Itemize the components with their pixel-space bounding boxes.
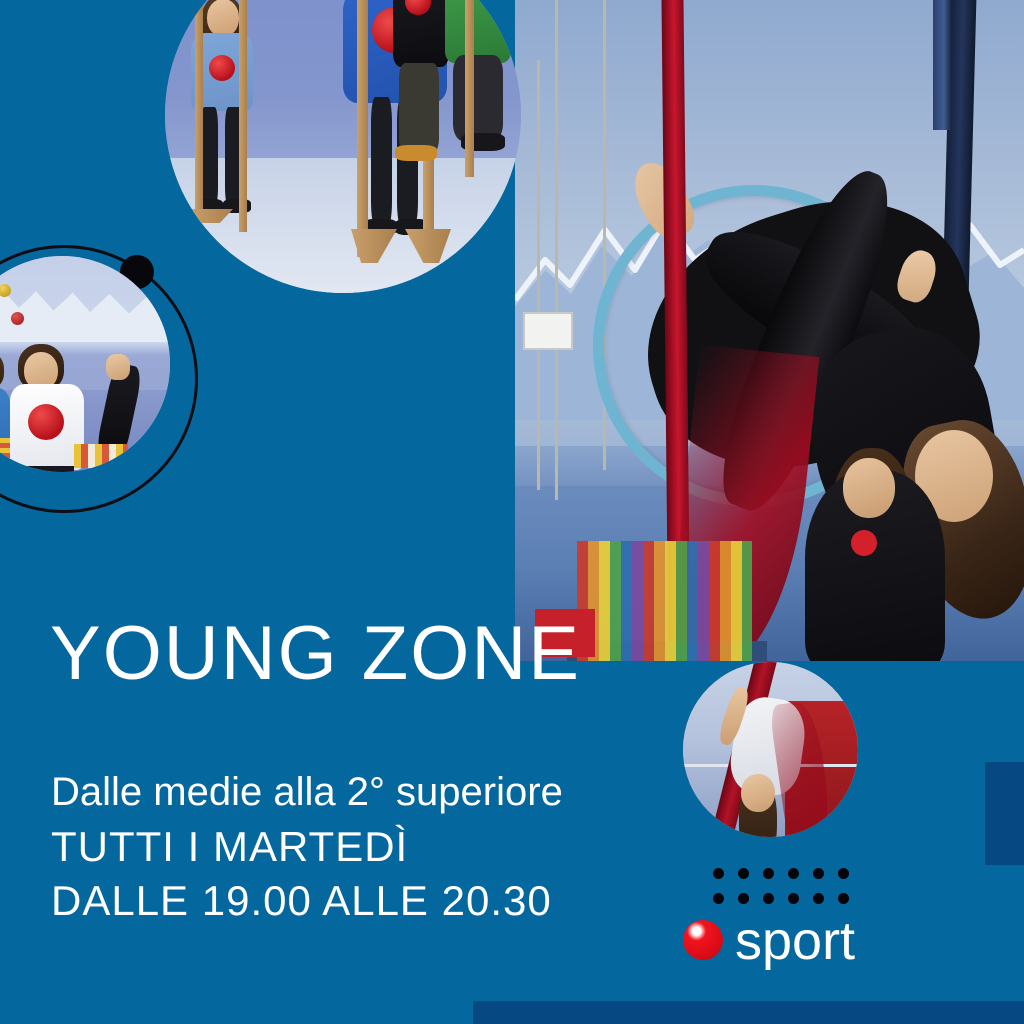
clap-logo-ball [28,404,64,440]
child-leg [399,63,439,153]
child-leggings [20,466,74,472]
child-leg [371,97,392,227]
juggling-ball [11,312,24,325]
clap-logo-ball [209,55,235,81]
logo-dot-grid [713,868,849,904]
decor-rect-right [985,762,1024,865]
juggling-props [0,438,10,468]
logo-dot [763,893,774,904]
subtitle-age-range: Dalle medie alla 2° superiore [51,772,563,812]
coach-shirt-logo [851,530,877,556]
rope-line [555,0,558,500]
logo-dot [788,868,799,879]
logo-dot [713,893,724,904]
stilt-pole [465,0,474,177]
wall-sign [523,312,573,350]
aerial-strap-highlight [933,0,951,130]
subtitle-day: TUTTI I MARTEDÌ [51,826,408,868]
logo-red-ball-icon [683,920,723,960]
juggling-circle-photo [0,256,170,472]
logo-dot [838,868,849,879]
subtitle-time: DALLE 19.00 ALLE 20.30 [51,880,552,922]
gym-floor [165,158,521,293]
aerial-silks-circle-photo [683,662,858,837]
child-leg [453,55,503,141]
poster-canvas: YOUNG ZONE Dalle medie alla 2° superiore… [0,0,1024,1024]
logo-dot [838,893,849,904]
child-shirt-green [445,0,511,63]
juggling-props [74,444,128,468]
logo-dot [788,893,799,904]
logo-dot [813,868,824,879]
logo-dot [738,868,749,879]
stilt-pole [239,0,247,232]
decor-rect-bottom [473,1001,1024,1024]
page-title: YOUNG ZONE [50,616,581,692]
colored-mats-stack [577,541,752,661]
child-head [741,774,775,812]
rope-line [537,60,540,490]
logo-wordmark: sport [735,914,855,968]
logo-dot [738,893,749,904]
child-head [207,0,239,37]
stilt-pole [195,0,203,217]
stilts-circle-photo [165,0,521,293]
logo-dot [713,868,724,879]
aerial-hoop-photo [515,0,1024,661]
logo-dot [763,868,774,879]
child-shoe [395,145,437,161]
stilt-pole [357,0,368,257]
logo-dot [813,893,824,904]
adult-hand [106,354,130,380]
child-leg [201,107,218,207]
coach-head [843,458,895,518]
